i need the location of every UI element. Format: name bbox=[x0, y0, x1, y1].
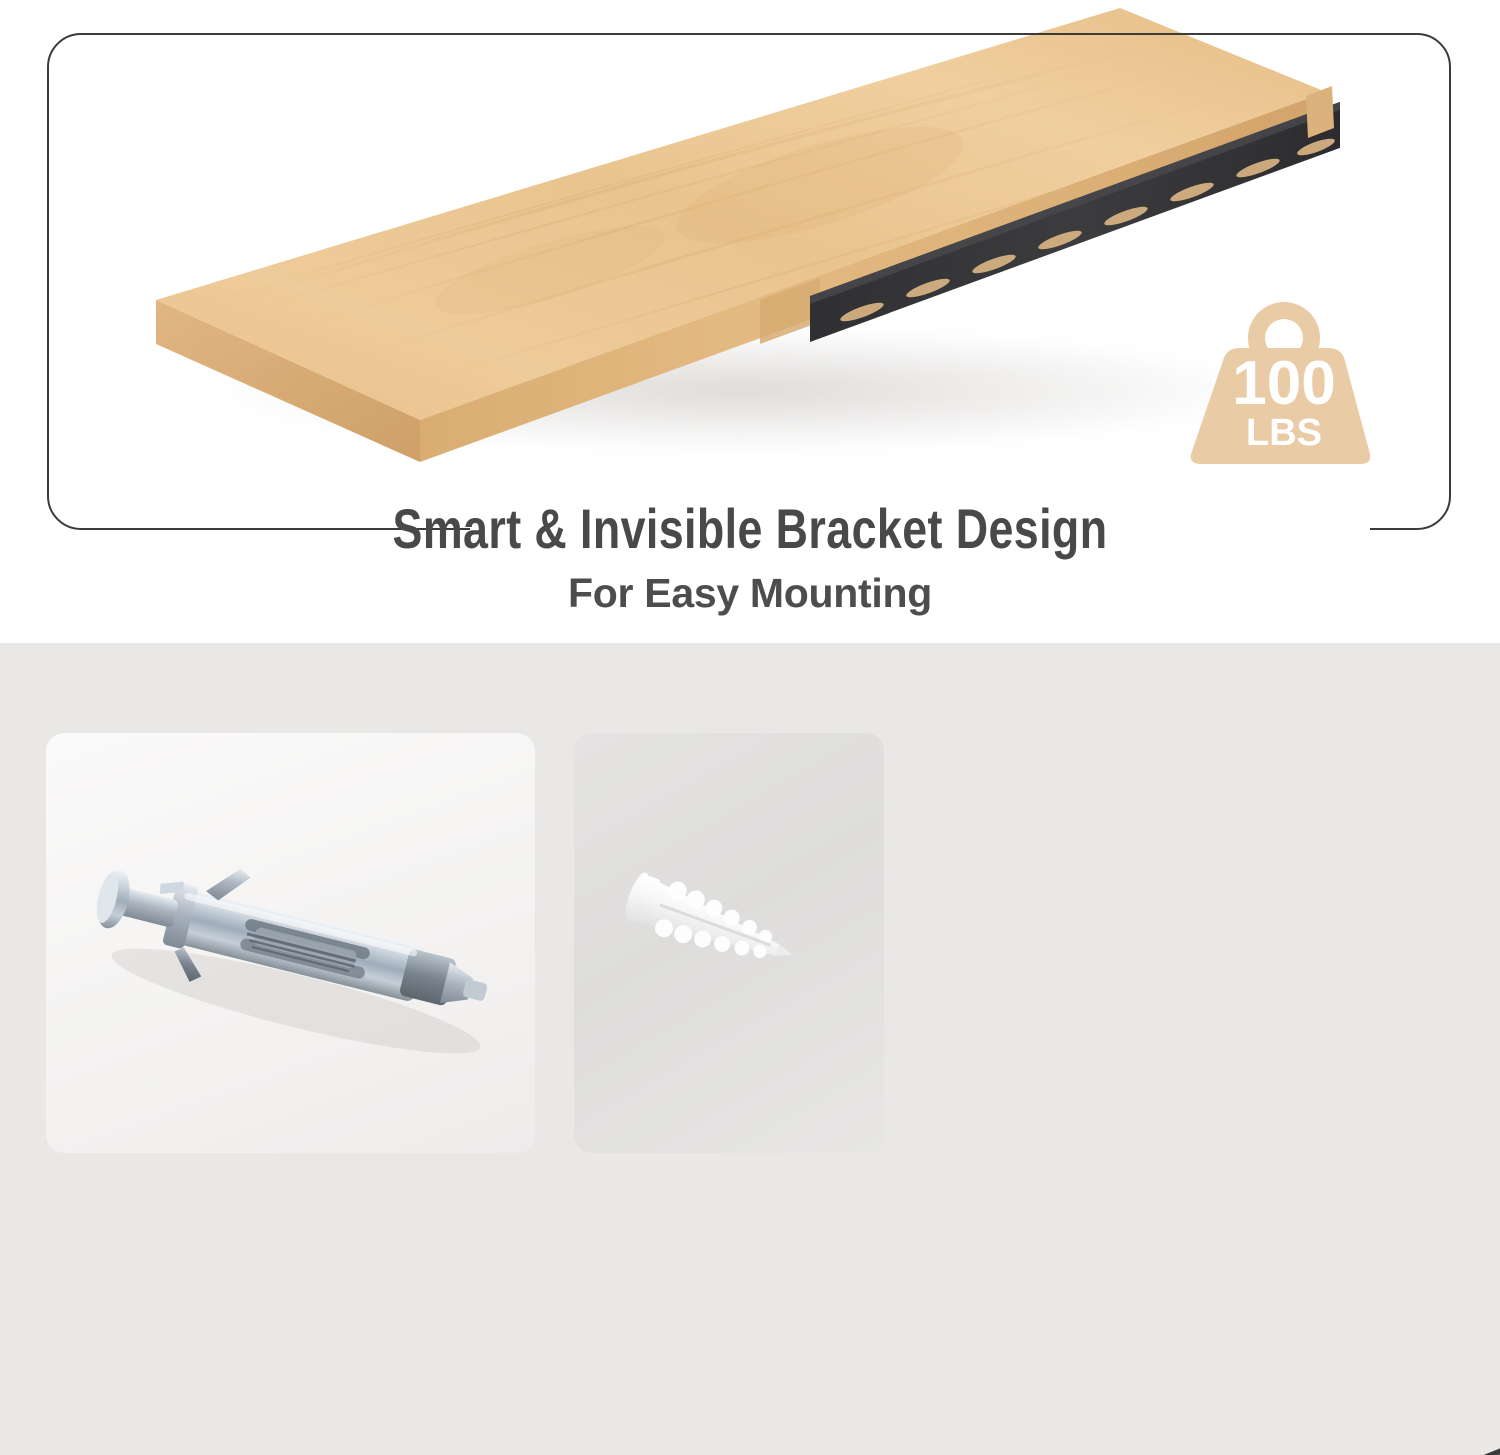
plastic-anchor-photo bbox=[574, 733, 884, 1153]
weight-capacity-badge: 100 LBS bbox=[1186, 296, 1382, 468]
top-panel: 100 LBS Smart & Invisible Bracket Design… bbox=[0, 0, 1500, 643]
badge-weight-value: 100 bbox=[1186, 353, 1382, 415]
page-title: Smart & Invisible Bracket Design bbox=[150, 496, 1350, 561]
badge-weight-unit: LBS bbox=[1186, 414, 1382, 452]
shelf-product-image bbox=[120, 0, 1340, 470]
page-subtitle: For Easy Mounting bbox=[0, 570, 1500, 617]
plastic-anchor-card bbox=[574, 733, 884, 1153]
metal-anchor-photo bbox=[46, 733, 535, 1153]
product-feature-infographic: 100 LBS Smart & Invisible Bracket Design… bbox=[0, 0, 1500, 1455]
iron-tube-illustration bbox=[860, 1383, 1500, 1455]
bottom-panel: Upgrade Metal Anchors heavy-duty Made of… bbox=[0, 643, 1500, 1455]
metal-anchor-card bbox=[46, 733, 535, 1153]
floating-shelf-illustration bbox=[120, 0, 1340, 470]
black-iron-tube-photo bbox=[860, 1383, 1500, 1455]
